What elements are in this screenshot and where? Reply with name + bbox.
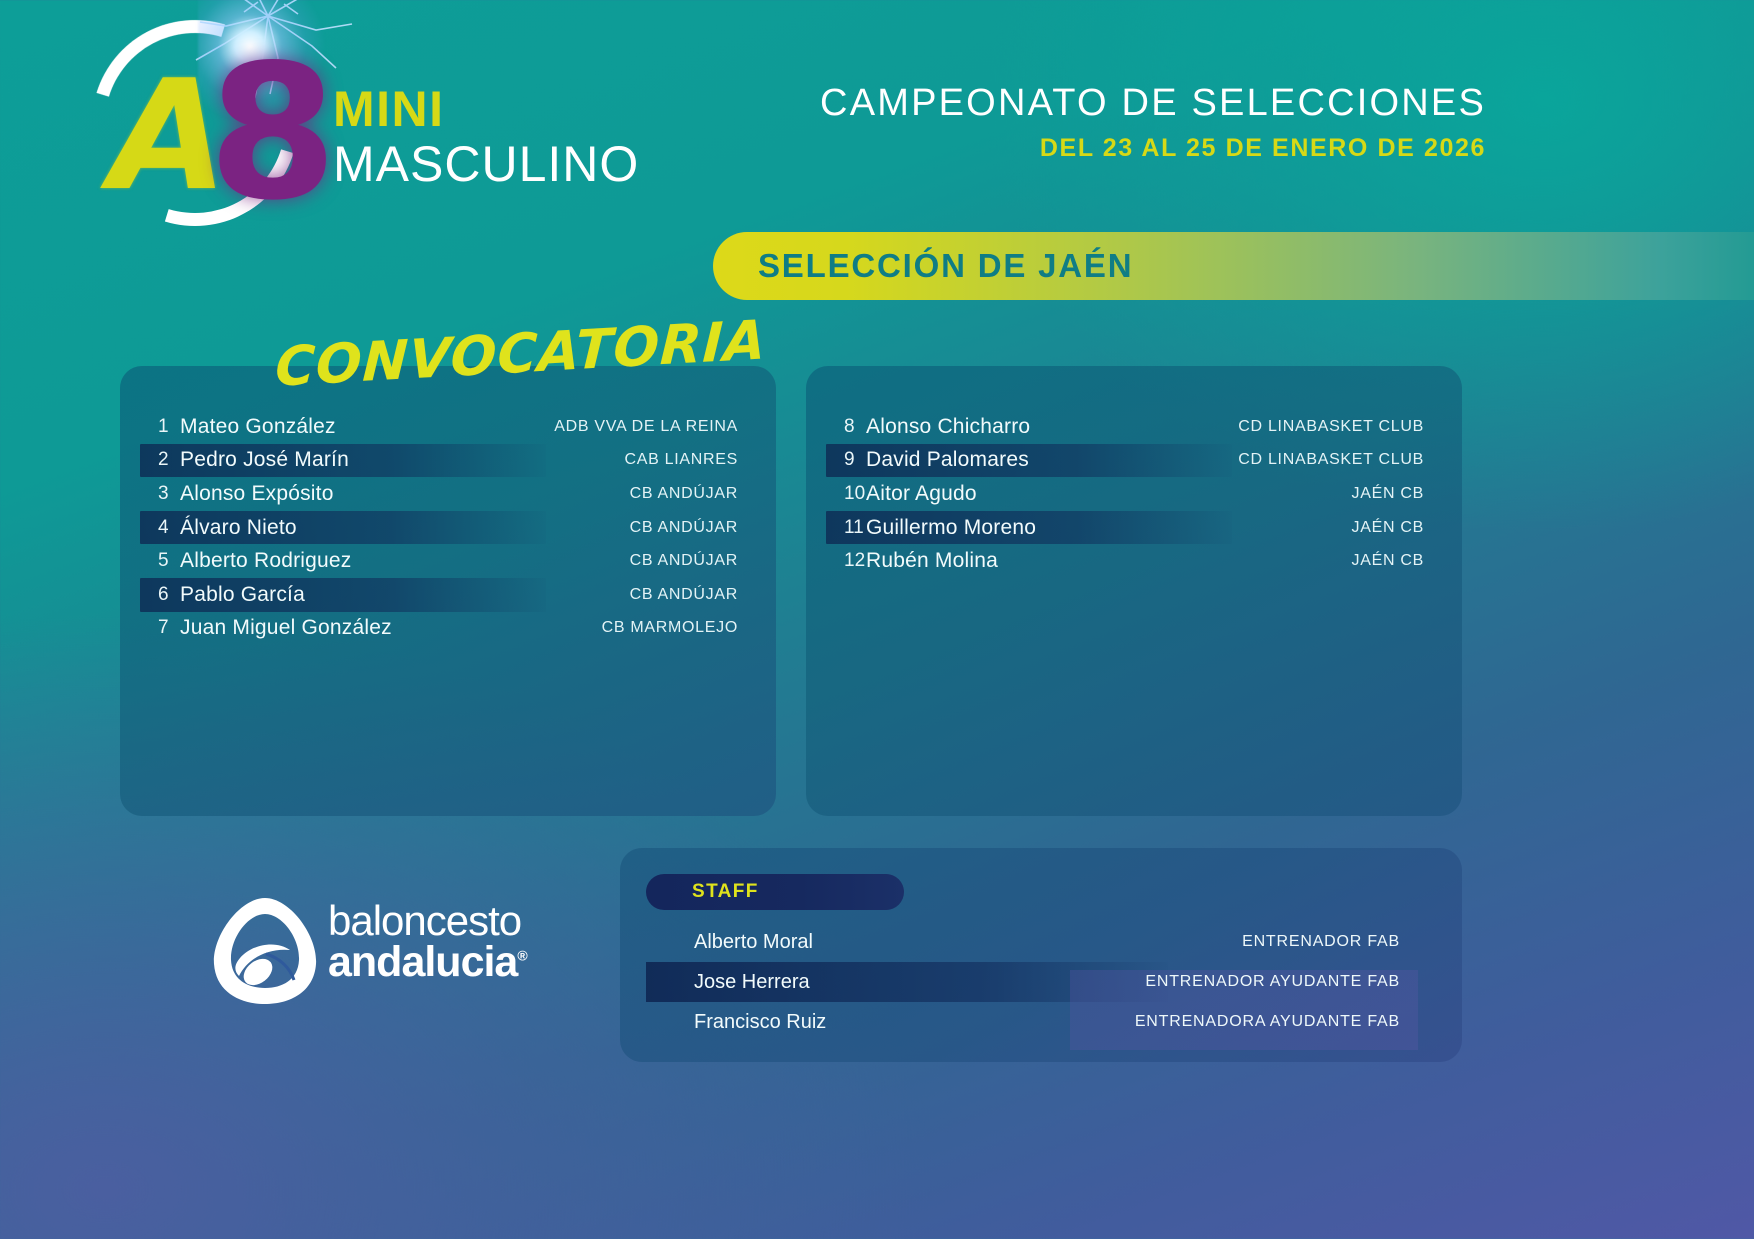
- roster-row-club: JAÉN CB: [1352, 552, 1462, 570]
- championship-dates: DEL 23 AL 25 DE ENERO DE 2026: [820, 134, 1486, 163]
- selection-banner-label: SELECCIÓN DE JAÉN: [758, 247, 1133, 285]
- registered-mark: ®: [517, 948, 526, 964]
- a8-event-logo: A 8: [78, 0, 328, 262]
- roster-row-number: 10: [806, 483, 866, 505]
- roster-row-player-name: Pablo García: [180, 583, 630, 607]
- roster-row-player-name: Alonso Expósito: [180, 482, 630, 506]
- roster-row-number: 12: [806, 550, 866, 572]
- roster-row-number: 4: [120, 517, 180, 539]
- roster-row: 3Alonso ExpósitoCB ANDÚJAR: [120, 477, 776, 511]
- staff-row-role: ENTRENADORA AYUDANTE FAB: [1135, 1013, 1462, 1031]
- roster-row-club: CB ANDÚJAR: [630, 485, 776, 503]
- staff-row: Alberto MoralENTRENADOR FAB: [620, 922, 1462, 962]
- roster-row-club: JAÉN CB: [1352, 519, 1462, 537]
- staff-row-name: Francisco Ruiz: [620, 1011, 1135, 1034]
- staff-row-name: Jose Herrera: [620, 971, 1145, 994]
- brand-line-2: andalucia®: [328, 941, 527, 984]
- roster-row-player-name: Pedro José Marín: [180, 448, 624, 472]
- category-title: MINI MASCULINO: [333, 84, 639, 190]
- staff-tag: STAFF: [646, 874, 904, 910]
- category-line-2: MASCULINO: [333, 139, 639, 190]
- roster-row-club: CD LINABASKET CLUB: [1238, 418, 1462, 436]
- logo-digit-8: 8: [208, 40, 337, 226]
- roster-row-club: CB ANDÚJAR: [630, 586, 776, 604]
- staff-panel: STAFF Alberto MoralENTRENADOR FABJose He…: [620, 848, 1462, 1062]
- roster-row: 2Pedro José MarínCAB LIANRES: [120, 444, 776, 478]
- staff-row-role: ENTRENADOR FAB: [1242, 933, 1462, 951]
- roster-row-number: 7: [120, 617, 180, 639]
- roster-row-player-name: Juan Miguel González: [180, 616, 602, 640]
- staff-row-name: Alberto Moral: [620, 931, 1242, 954]
- roster-row: 5Alberto RodriguezCB ANDÚJAR: [120, 544, 776, 578]
- baloncesto-andalucia-swirl-icon: [206, 892, 324, 1010]
- roster-row-player-name: Rubén Molina: [866, 549, 1352, 573]
- roster-row-player-name: Alonso Chicharro: [866, 415, 1238, 439]
- roster-row-club: CD LINABASKET CLUB: [1238, 451, 1462, 469]
- roster-row-player-name: Mateo González: [180, 415, 554, 439]
- roster-row: 6Pablo GarcíaCB ANDÚJAR: [120, 578, 776, 612]
- roster-row: 12Rubén MolinaJAÉN CB: [806, 544, 1462, 578]
- roster-panel-left: 1Mateo GonzálezADB VVA DE LA REINA2Pedro…: [120, 366, 776, 816]
- roster-row-number: 9: [806, 449, 866, 471]
- roster-row-number: 1: [120, 416, 180, 438]
- roster-row-number: 11: [806, 517, 866, 539]
- brand-wordmark: baloncesto andalucia®: [328, 900, 527, 984]
- category-line-1: MINI: [333, 84, 639, 135]
- staff-label: STAFF: [692, 881, 759, 903]
- brand-line-2-text: andalucia: [328, 938, 517, 986]
- roster-row-club: CAB LIANRES: [624, 451, 776, 469]
- brand-line-1: baloncesto: [328, 900, 527, 941]
- roster-row-player-name: Alberto Rodriguez: [180, 549, 630, 573]
- roster-row-player-name: David Palomares: [866, 448, 1238, 472]
- roster-row-player-name: Álvaro Nieto: [180, 516, 630, 540]
- roster-row-number: 3: [120, 483, 180, 505]
- roster-row-club: JAÉN CB: [1352, 485, 1462, 503]
- selection-banner: SELECCIÓN DE JAÉN: [713, 232, 1754, 300]
- roster-row-club: CB MARMOLEJO: [602, 619, 776, 637]
- championship-title: CAMPEONATO DE SELECCIONES: [820, 82, 1486, 125]
- roster-panel-right: 8Alonso ChicharroCD LINABASKET CLUB9Davi…: [806, 366, 1462, 816]
- staff-row-role: ENTRENADOR AYUDANTE FAB: [1145, 973, 1462, 991]
- roster-row-club: CB ANDÚJAR: [630, 519, 776, 537]
- roster-row-club: CB ANDÚJAR: [630, 552, 776, 570]
- roster-row-club: ADB VVA DE LA REINA: [554, 418, 776, 436]
- roster-row-player-name: Aitor Agudo: [866, 482, 1352, 506]
- roster-row-number: 2: [120, 449, 180, 471]
- baloncesto-andalucia-logo: baloncesto andalucia®: [206, 892, 536, 1012]
- roster-row: 10Aitor AgudoJAÉN CB: [806, 477, 1462, 511]
- roster-row: 4Álvaro NietoCB ANDÚJAR: [120, 511, 776, 545]
- logo-letter-a: A: [110, 60, 218, 212]
- roster-row: 9David PalomaresCD LINABASKET CLUB: [806, 444, 1462, 478]
- roster-row-number: 5: [120, 550, 180, 572]
- roster-row-player-name: Guillermo Moreno: [866, 516, 1352, 540]
- roster-row: 7Juan Miguel GonzálezCB MARMOLEJO: [120, 612, 776, 646]
- roster-row: 1Mateo GonzálezADB VVA DE LA REINA: [120, 410, 776, 444]
- championship-block: CAMPEONATO DE SELECCIONES DEL 23 AL 25 D…: [820, 82, 1486, 163]
- roster-row-number: 8: [806, 416, 866, 438]
- roster-row: 8Alonso ChicharroCD LINABASKET CLUB: [806, 410, 1462, 444]
- roster-row: 11Guillermo MorenoJAÉN CB: [806, 511, 1462, 545]
- roster-row-number: 6: [120, 584, 180, 606]
